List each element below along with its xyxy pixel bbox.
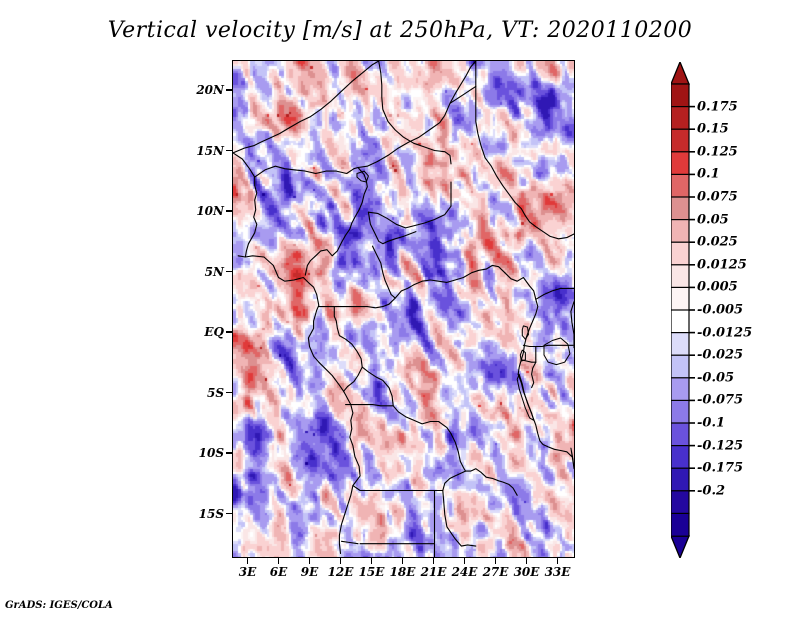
colorbar-tick-label: 0.15 <box>697 122 729 137</box>
y-axis-tick-label: 15S <box>186 507 224 521</box>
y-axis-tick-label: 20N <box>186 83 224 97</box>
colorbar-tick-label: -0.125 <box>697 438 743 453</box>
y-axis-tick-label: 5S <box>186 386 224 400</box>
x-axis-tick-label: 33E <box>545 565 571 579</box>
x-axis-tick <box>464 558 466 564</box>
y-axis-tick-label: 10S <box>186 446 224 460</box>
y-axis-tick <box>226 331 232 333</box>
velocity-heatmap-canvas <box>233 61 574 557</box>
y-axis-tick-label: 10N <box>186 204 224 218</box>
colorbar-bands <box>671 62 697 558</box>
x-axis-tick <box>340 558 342 564</box>
colorbar-tick-label: 0.05 <box>697 212 729 227</box>
colorbar-tick-label: -0.2 <box>697 483 725 498</box>
x-axis-tick <box>309 558 311 564</box>
colorbar-tick-label: 0.075 <box>697 190 738 205</box>
colorbar-tick-label: -0.1 <box>697 416 725 431</box>
x-axis-tick-label: 15E <box>359 565 385 579</box>
x-axis-tick-label: 30E <box>514 565 540 579</box>
colorbar-tick-label: -0.175 <box>697 461 743 476</box>
x-axis-tick <box>247 558 249 564</box>
y-axis-tick-label: 15N <box>186 144 224 158</box>
y-axis-tick-label: 5N <box>186 265 224 279</box>
page-title: Vertical velocity [m/s] at 250hPa, VT: 2… <box>0 18 800 43</box>
x-axis-tick-label: 18E <box>390 565 416 579</box>
x-axis-tick <box>278 558 280 564</box>
x-axis-tick-label: 3E <box>239 565 257 579</box>
y-axis-tick <box>226 513 232 515</box>
y-axis-tick <box>226 210 232 212</box>
y-axis-tick-label: EQ <box>186 325 224 339</box>
colorbar-tick-label: 0.0125 <box>697 257 747 272</box>
colorbar-tick-label: 0.125 <box>697 144 738 159</box>
y-axis-tick <box>226 271 232 273</box>
y-axis-tick <box>226 392 232 394</box>
colorbar-tick-label: -0.005 <box>697 303 743 318</box>
x-axis-tick <box>402 558 404 564</box>
colorbar-tick-label: -0.05 <box>697 370 734 385</box>
colorbar-tick-label: 0.1 <box>697 167 720 182</box>
x-axis-tick <box>495 558 497 564</box>
colorbar-tick-label: 0.005 <box>697 280 738 295</box>
y-axis-tick <box>226 89 232 91</box>
x-axis-tick-label: 12E <box>328 565 354 579</box>
colorbar-tick-label: -0.0125 <box>697 325 752 340</box>
x-axis-tick-label: 27E <box>483 565 509 579</box>
map-plot-area <box>232 60 575 558</box>
x-axis-tick-label: 24E <box>452 565 478 579</box>
y-axis-tick <box>226 452 232 454</box>
colorbar-tick-label: 0.175 <box>697 99 738 114</box>
colorbar-tick-label: -0.075 <box>697 393 743 408</box>
x-axis-tick <box>557 558 559 564</box>
attribution-footer: GrADS: IGES/COLA <box>5 600 113 611</box>
y-axis-tick <box>226 150 232 152</box>
colorbar: 0.1750.150.1250.10.0750.050.0250.01250.0… <box>671 62 791 558</box>
x-axis-tick <box>371 558 373 564</box>
x-axis-tick-label: 21E <box>421 565 447 579</box>
x-axis-tick-label: 6E <box>270 565 288 579</box>
colorbar-tick-label: -0.025 <box>697 348 743 363</box>
x-axis-tick <box>433 558 435 564</box>
x-axis-tick <box>526 558 528 564</box>
colorbar-tick-label: 0.025 <box>697 235 738 250</box>
x-axis-tick-label: 9E <box>301 565 319 579</box>
